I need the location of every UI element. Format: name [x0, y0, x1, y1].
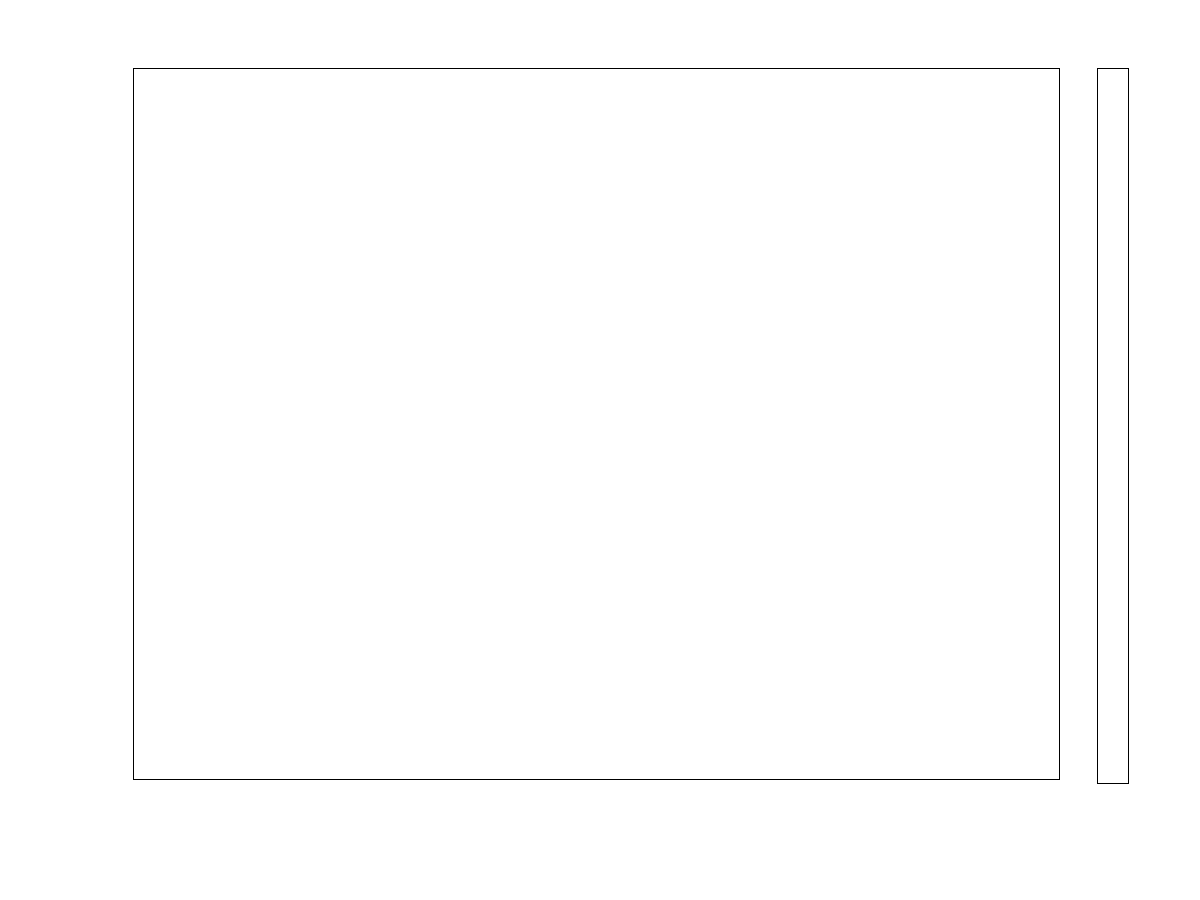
colorbar[interactable] [1097, 68, 1129, 784]
colorbar-gradient [1098, 69, 1128, 783]
heatmap-image [134, 69, 1059, 779]
figure-canvas [0, 0, 1200, 900]
heatmap-axes[interactable] [133, 68, 1060, 780]
